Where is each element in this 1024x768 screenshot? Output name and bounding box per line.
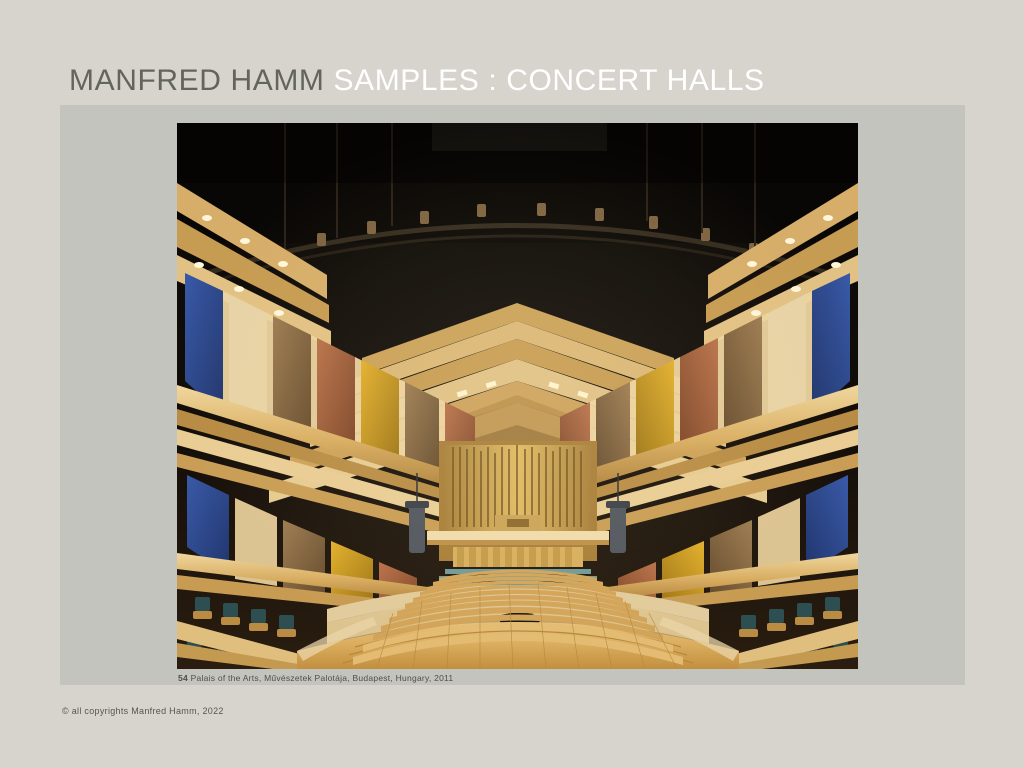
page-title: MANFRED HAMM SAMPLES : CONCERT HALLS: [69, 64, 765, 98]
concert-hall-photo: [177, 123, 858, 669]
caption-number: 54: [178, 673, 188, 683]
caption-text: Palais of the Arts, Művészetek Palotája,…: [188, 673, 453, 683]
title-subject: SAMPLES : CONCERT HALLS: [333, 64, 764, 97]
title-author: MANFRED HAMM: [69, 64, 325, 97]
footer-copyright: © all copyrights Manfred Hamm, 2022: [62, 706, 224, 716]
photo-caption: 54 Palais of the Arts, Művészetek Palotá…: [178, 673, 453, 683]
concert-hall-illustration: [177, 123, 858, 669]
